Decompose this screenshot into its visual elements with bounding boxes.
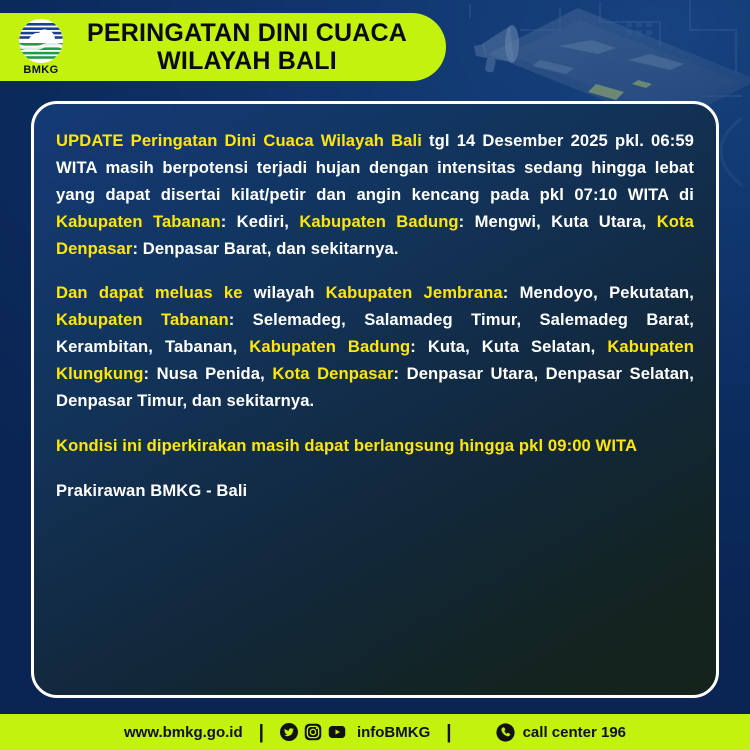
body-text-run: : Mendoyo, Pekutatan, (503, 283, 694, 302)
highlighted-region-name: Kabupaten Jembrana (326, 283, 503, 302)
footer-separator-left: | (259, 723, 264, 742)
page-title-line2: WILAYAH BALI (82, 47, 412, 76)
youtube-icon[interactable] (328, 723, 346, 741)
footer-social-links: infoBMKG (280, 723, 430, 741)
instagram-icon[interactable] (304, 723, 322, 741)
warning-duration-text: Kondisi ini diperkirakan masih dapat ber… (56, 436, 637, 455)
body-text-run: : Kuta, Kuta Selatan, (410, 337, 607, 356)
warning-duration-note: Kondisi ini diperkirakan masih dapat ber… (56, 433, 694, 460)
footer-call-center-label: call center 196 (523, 724, 626, 741)
bmkg-logo-caption: BMKG (23, 64, 58, 76)
body-text-run: : Nusa Penida, (144, 364, 273, 383)
body-text-run: : Kediri, (221, 212, 300, 231)
footer-social-handle[interactable]: infoBMKG (357, 724, 430, 741)
highlighted-region-name: Kabupaten Badung (249, 337, 410, 356)
warning-paragraph-2: Dan dapat meluas ke wilayah Kabupaten Je… (56, 280, 694, 414)
highlighted-region-name: Kabupaten Tabanan (56, 310, 229, 329)
page-title-line1: PERINGATAN DINI CUACA (82, 19, 412, 48)
body-text-run: : Mengwi, Kuta Utara, (459, 212, 657, 231)
footer-website[interactable]: www.bmkg.go.id (124, 724, 243, 741)
highlighted-region-name: Dan dapat meluas ke (56, 283, 243, 302)
header-title-pill: BMKG PERINGATAN DINI CUACA WILAYAH BALI (0, 13, 446, 81)
warning-content-panel: UPDATE Peringatan Dini Cuaca Wilayah Bal… (31, 101, 719, 698)
footer-separator-right: | (446, 723, 451, 742)
highlighted-region-name: UPDATE Peringatan Dini Cuaca Wilayah Bal… (56, 131, 422, 150)
body-text-run: : Denpasar Barat, dan sekitarnya. (132, 239, 398, 258)
body-text-run: wilayah (243, 283, 326, 302)
warning-paragraph-1: UPDATE Peringatan Dini Cuaca Wilayah Bal… (56, 128, 694, 262)
footer-bar: www.bmkg.go.id | infoBMKG | (0, 714, 750, 750)
warning-signature: Prakirawan BMKG - Bali (56, 478, 694, 505)
twitter-icon[interactable] (280, 723, 298, 741)
page-title: PERINGATAN DINI CUACA WILAYAH BALI (82, 19, 446, 76)
phone-icon (496, 723, 515, 742)
highlighted-region-name: Kabupaten Badung (299, 212, 458, 231)
highlighted-region-name: Kota Denpasar (272, 364, 393, 383)
bmkg-logo: BMKG (10, 19, 72, 76)
footer-call-center: call center 196 (496, 723, 626, 742)
bmkg-logo-icon (19, 19, 63, 63)
highlighted-region-name: Kabupaten Tabanan (56, 212, 221, 231)
